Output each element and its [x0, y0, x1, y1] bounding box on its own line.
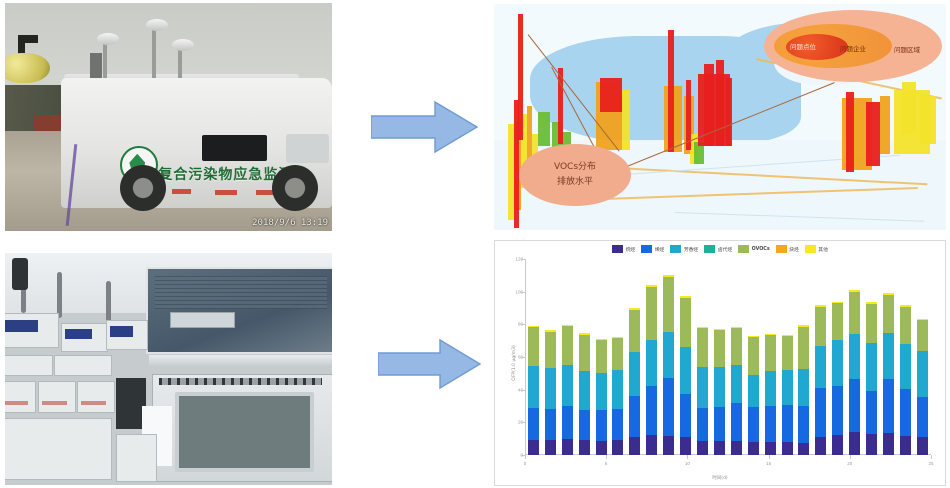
legend-item-6[interactable]: 其他 — [805, 245, 828, 253]
reflective-stripe — [172, 189, 191, 194]
ofp-stacked-bar-chart: 烷烃烯烃芳香烃卤代烃OVOCs炔烃其他 OFP(1.0 μg/m3) 时间(d)… — [494, 240, 946, 486]
bar-segment — [579, 371, 590, 411]
voc-column — [902, 82, 916, 134]
bar-segment — [697, 328, 708, 367]
bar-segment — [832, 303, 843, 340]
voc-3d-distribution-map: VOCs分布 排放水平 问题点位 问题企业 问题区域 — [494, 4, 946, 230]
legend-label: 芳香烃 — [684, 246, 698, 253]
bar-column[interactable] — [866, 302, 877, 455]
bar-segment — [612, 440, 623, 455]
voc-column — [668, 30, 674, 152]
x-tick-mark — [850, 455, 851, 459]
bar-segment — [629, 437, 640, 455]
bar-segment — [883, 333, 894, 379]
bar-segment — [562, 365, 573, 406]
bar-segment — [765, 335, 776, 371]
bar-segment — [680, 347, 691, 394]
analyzer-unit-3 — [106, 320, 147, 350]
bar-segment — [866, 304, 877, 343]
bar-column[interactable] — [697, 327, 708, 455]
bar-segment — [782, 442, 793, 455]
legend-label: 卤代烃 — [718, 246, 732, 253]
bar-segment — [579, 440, 590, 455]
callout-line-2: 排放水平 — [557, 175, 593, 190]
bar-segment — [731, 328, 742, 365]
voc-column — [622, 90, 630, 150]
bar-segment — [714, 441, 725, 455]
legend-item-3[interactable]: 卤代烃 — [704, 245, 732, 253]
overhead-equipment-cabinet — [146, 267, 332, 355]
bar-segment — [798, 327, 809, 369]
scope-ellipse-outer: 问题点位 问题企业 问题区域 — [764, 10, 942, 82]
bar-segment — [815, 388, 826, 437]
ceiling-bracket — [12, 258, 28, 290]
x-tick-mark — [931, 455, 932, 459]
bar-segment — [545, 368, 556, 409]
bar-segment — [562, 439, 573, 455]
x-tick-mark — [769, 455, 770, 459]
bar-segment — [748, 375, 759, 408]
bar-segment — [731, 441, 742, 455]
bar-column[interactable] — [579, 333, 590, 455]
x-tick-label: 5 — [605, 461, 608, 466]
bar-segment — [900, 307, 911, 344]
voc-column — [880, 96, 890, 154]
bar-segment — [815, 437, 826, 455]
chart-bars — [525, 259, 931, 455]
bar-segment — [917, 351, 928, 397]
bar-segment — [562, 326, 573, 365]
bar-segment — [629, 310, 640, 352]
legend-item-2[interactable]: 芳香烃 — [670, 245, 698, 253]
bar-column[interactable] — [731, 327, 742, 455]
bar-column[interactable] — [629, 308, 640, 455]
voc-column — [716, 60, 724, 146]
bar-segment — [562, 406, 573, 439]
bar-segment — [832, 340, 843, 387]
bar-segment — [528, 408, 539, 441]
bar-segment — [629, 396, 640, 437]
bar-segment — [663, 277, 674, 332]
chart-x-axis-label: 时间(d) — [712, 475, 727, 481]
bar-segment — [680, 437, 691, 455]
bar-segment — [849, 432, 860, 455]
bar-segment — [798, 406, 809, 443]
sampling-mast-cap-1 — [97, 33, 119, 45]
bar-column[interactable] — [782, 334, 793, 455]
bar-segment — [815, 307, 826, 346]
sampling-tube-2 — [57, 272, 62, 318]
chart-legend: 烷烃烯烃芳香烃卤代烃OVOCs炔烃其他 — [495, 245, 945, 253]
bar-segment — [748, 442, 759, 455]
bar-segment — [731, 403, 742, 441]
cabinet-vents — [155, 276, 326, 309]
bar-segment — [596, 410, 607, 441]
bar-segment — [765, 371, 776, 406]
roof-instrument-box — [90, 53, 102, 78]
bar-segment — [596, 340, 607, 373]
scope-label-inner: 问题点位 — [790, 41, 816, 51]
bar-segment — [900, 436, 911, 455]
flow-arrow-bottom — [378, 336, 482, 392]
street-lamp-icon — [5, 35, 62, 87]
bar-segment — [765, 406, 776, 443]
bar-segment — [697, 441, 708, 455]
gas-analyzer-1 — [5, 381, 36, 413]
bar-segment — [680, 394, 691, 437]
bar-segment — [528, 327, 539, 366]
bar-segment — [545, 332, 556, 369]
bar-segment — [663, 436, 674, 455]
lower-equipment-bay — [5, 418, 112, 480]
bar-segment — [714, 407, 725, 441]
bar-segment — [866, 391, 877, 434]
photo-timestamp: 2018/9/6 13:19 — [252, 218, 328, 228]
bar-segment — [883, 433, 894, 455]
bar-segment — [798, 443, 809, 455]
sampling-tube-3 — [106, 281, 111, 323]
bar-segment — [917, 320, 928, 350]
bar-column[interactable] — [883, 293, 894, 455]
bar-segment — [596, 441, 607, 455]
bar-segment — [782, 336, 793, 371]
chart-plot-area: 020406080100120 0510152025 — [525, 259, 931, 455]
sampling-mast-cap-2 — [146, 19, 168, 31]
bar-segment — [663, 332, 674, 379]
bar-segment — [748, 407, 759, 442]
bar-column[interactable] — [849, 290, 860, 455]
bar-column[interactable] — [798, 325, 809, 455]
bar-segment — [612, 338, 623, 370]
legend-swatch-icon — [738, 245, 749, 253]
legend-label: 烯烃 — [655, 246, 665, 253]
photo-monitoring-vehicle: 大气复合污染物应急监测车 2018/9/6 13:19 — [5, 3, 332, 231]
bar-segment — [731, 365, 742, 403]
voc-column — [726, 78, 732, 146]
x-tick-label: 0 — [524, 461, 527, 466]
van-side-window — [202, 135, 267, 161]
bar-segment — [697, 408, 708, 441]
scope-label-outer: 问题区域 — [894, 44, 920, 54]
rack-module-2 — [54, 355, 112, 376]
van-cab-window — [286, 134, 329, 163]
chart-y-axis-label: OFP(1.0 μg/m3) — [512, 345, 517, 380]
van-body: 大气复合污染物应急监测车 — [61, 78, 332, 208]
legend-label: 其他 — [818, 246, 828, 253]
bar-segment — [832, 386, 843, 435]
console-button-row[interactable] — [159, 378, 323, 385]
bar-segment — [883, 295, 894, 333]
bar-segment — [765, 442, 776, 455]
bar-segment — [612, 370, 623, 409]
gas-analyzer-3 — [77, 381, 115, 413]
bar-column[interactable] — [612, 337, 623, 455]
sampling-mast-2 — [152, 24, 156, 79]
legend-swatch-icon — [776, 245, 787, 253]
legend-label: 炔烃 — [789, 246, 799, 253]
legend-item-5[interactable]: 炔烃 — [776, 245, 799, 253]
bar-column[interactable] — [748, 336, 759, 455]
x-tick-label: 25 — [928, 461, 933, 466]
lab-panel-bar — [149, 355, 332, 367]
bar-column[interactable] — [832, 301, 843, 455]
x-tick-label: 10 — [685, 461, 690, 466]
legend-swatch-icon — [641, 245, 652, 253]
bar-segment — [528, 366, 539, 407]
photo-mobile-lab-interior — [5, 253, 332, 485]
bar-segment — [646, 386, 657, 435]
legend-swatch-icon — [805, 245, 816, 253]
van-wheel-front — [272, 165, 318, 211]
bar-segment — [900, 344, 911, 388]
voc-column — [866, 102, 880, 166]
bar-segment — [849, 379, 860, 432]
bar-segment — [646, 287, 657, 341]
analyzer-unit-1 — [5, 313, 59, 347]
legend-swatch-icon — [704, 245, 715, 253]
bar-segment — [629, 352, 640, 396]
floor-unit — [116, 434, 157, 482]
voc-column — [600, 78, 622, 112]
bar-segment — [545, 440, 556, 455]
bar-segment — [782, 370, 793, 405]
bar-segment — [579, 410, 590, 440]
bar-segment — [697, 367, 708, 408]
legend-swatch-icon — [670, 245, 681, 253]
scope-label-middle: 问题企业 — [840, 43, 866, 53]
bar-segment — [849, 292, 860, 334]
bar-column[interactable] — [917, 319, 928, 455]
van-wheel-rear — [120, 165, 166, 211]
bar-column[interactable] — [646, 285, 657, 455]
bar-column[interactable] — [528, 325, 539, 455]
black-instrument-case — [116, 378, 145, 429]
bar-segment — [900, 389, 911, 436]
voc-column — [846, 92, 854, 172]
bar-segment — [646, 340, 657, 385]
legend-label: OVOCs — [752, 247, 770, 252]
bar-segment — [815, 346, 826, 388]
bar-segment — [866, 434, 877, 455]
legend-swatch-icon — [612, 245, 623, 253]
bar-segment — [849, 334, 860, 379]
legend-item-0[interactable]: 烷烃 — [612, 245, 635, 253]
bar-segment — [782, 405, 793, 442]
bar-column[interactable] — [900, 305, 911, 455]
bar-segment — [612, 409, 623, 441]
bar-column[interactable] — [680, 296, 691, 455]
cabinet-label-plate — [170, 312, 235, 327]
x-tick-label: 20 — [847, 461, 852, 466]
bar-segment — [528, 440, 539, 455]
legend-item-1[interactable]: 烯烃 — [641, 245, 664, 253]
rack-module-1 — [5, 355, 53, 376]
bar-segment — [545, 409, 556, 440]
x-tick-mark — [687, 455, 688, 459]
bar-segment — [680, 298, 691, 347]
legend-item-4[interactable]: OVOCs — [738, 245, 770, 253]
analyzer-unit-2 — [61, 323, 109, 353]
bar-column[interactable] — [596, 339, 607, 455]
bar-segment — [714, 330, 725, 367]
bar-segment — [917, 437, 928, 455]
x-tick-mark — [606, 455, 607, 459]
voc-column — [920, 96, 936, 144]
x-tick-mark — [525, 455, 526, 459]
bar-column[interactable] — [815, 305, 826, 455]
voc-distribution-callout: VOCs分布 排放水平 — [519, 144, 631, 206]
voc-column — [538, 112, 550, 146]
bar-segment — [883, 379, 894, 433]
bar-segment — [596, 373, 607, 410]
x-tick-label: 15 — [766, 461, 771, 466]
flow-arrow-top — [371, 98, 479, 156]
gas-analyzer-2 — [38, 381, 76, 413]
bar-column[interactable] — [714, 329, 725, 455]
bar-column[interactable] — [562, 325, 573, 456]
bar-segment — [832, 435, 843, 455]
bar-column[interactable] — [765, 334, 776, 455]
bar-segment — [579, 335, 590, 371]
bar-segment — [917, 397, 928, 437]
bar-segment — [646, 435, 657, 455]
bar-column[interactable] — [663, 275, 674, 455]
bar-column[interactable] — [545, 330, 556, 455]
bar-segment — [714, 367, 725, 407]
legend-label: 烷烃 — [626, 246, 636, 253]
bar-segment — [798, 369, 809, 406]
bar-segment — [663, 378, 674, 435]
bar-segment — [866, 343, 877, 390]
reflective-stripe — [215, 190, 237, 195]
voc-column — [518, 14, 523, 140]
console-display-screen[interactable] — [175, 392, 314, 472]
callout-line-1: VOCs分布 — [554, 160, 596, 175]
bar-segment — [748, 337, 759, 375]
